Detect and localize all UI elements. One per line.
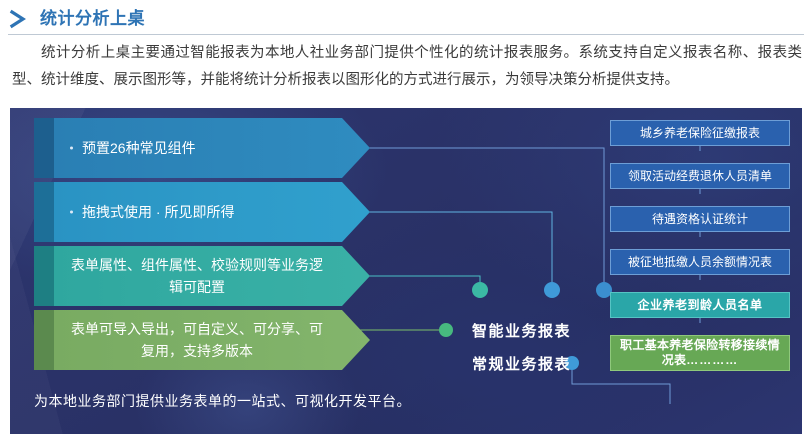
chevron-right-icon [8, 8, 30, 30]
page-title: 统计分析上桌 [40, 8, 145, 30]
feature-bar-3[interactable]: 表单属性、组件属性、校验规则等业务逻辑可配置 [34, 246, 370, 306]
connector-dot-green [439, 323, 453, 337]
center-label-smart-report: 智能业务报表 [472, 320, 571, 341]
report-item-4-label: 被征地抵缴人员余额情况表 [628, 255, 772, 269]
report-item-6[interactable]: 职工基本养老保险转移接续情况表………… [610, 335, 790, 371]
title-divider [8, 34, 804, 35]
report-item-6-ellipsis: ………… [686, 353, 738, 367]
feature-bar-3-tab [34, 246, 54, 306]
page-bottom-margin [0, 434, 812, 439]
feature-bar-2[interactable]: 拖拽式使用 · 所见即所得 [34, 182, 370, 242]
report-list: 城乡养老保险征缴报表 领取活动经费退休人员清单 待遇资格认证统计 被征地抵缴人员… [610, 120, 790, 420]
report-item-4[interactable]: 被征地抵缴人员余额情况表 [610, 249, 790, 275]
feature-bar-1-label: 预置26种常见组件 [82, 137, 196, 159]
feature-bar-1[interactable]: 预置26种常见组件 [34, 118, 370, 178]
bullet-icon [70, 211, 73, 214]
feature-bar-1-text-wrap: 预置26种常见组件 [54, 118, 340, 178]
header-section: 统计分析上桌 统计分析上桌主要通过智能报表为本地人社业务部门提供个性化的统计报表… [0, 0, 812, 104]
feature-bar-2-text-wrap: 拖拽式使用 · 所见即所得 [54, 182, 340, 242]
feature-bar-list: 预置26种常见组件 拖拽式使用 · 所见即所得 表单属性、组件属性、校验规则等业… [34, 118, 370, 376]
feature-bar-1-tab [34, 118, 54, 178]
connector-dot-blue-1 [544, 282, 560, 298]
bullet-icon [70, 147, 73, 150]
feature-bar-3-label: 表单属性、组件属性、校验规则等业务逻辑可配置 [68, 254, 326, 298]
title-row: 统计分析上桌 [8, 8, 145, 30]
intro-paragraph: 统计分析上桌主要通过智能报表为本地人社业务部门提供个性化的统计报表服务。系统支持… [12, 40, 802, 94]
report-item-6-label: 职工基本养老保险转移接续情况表………… [615, 338, 785, 368]
feature-bar-4-label: 表单可导入导出，可自定义、可分享、可复用，支持多版本 [68, 318, 326, 362]
feature-bar-2-tab [34, 182, 54, 242]
feature-bar-4-text-wrap: 表单可导入导出，可自定义、可分享、可复用，支持多版本 [54, 310, 340, 370]
report-item-5-label: 企业养老到龄人员名单 [637, 298, 762, 312]
diagram-panel: 预置26种常见组件 拖拽式使用 · 所见即所得 表单属性、组件属性、校验规则等业… [10, 108, 802, 434]
feature-bar-3-text-wrap: 表单属性、组件属性、校验规则等业务逻辑可配置 [54, 246, 340, 306]
report-item-1[interactable]: 城乡养老保险征缴报表 [610, 120, 790, 146]
report-item-2-label: 领取活动经费退休人员清单 [628, 169, 772, 183]
feature-bar-4[interactable]: 表单可导入导出，可自定义、可分享、可复用，支持多版本 [34, 310, 370, 370]
feature-bar-4-tab [34, 310, 54, 370]
connector-dot-teal [472, 282, 488, 298]
panel-footer-text: 为本地业务部门提供业务表单的一站式、可视化开发平台。 [34, 388, 594, 414]
feature-bar-2-label: 拖拽式使用 · 所见即所得 [82, 201, 234, 223]
report-item-3[interactable]: 待遇资格认证统计 [610, 206, 790, 232]
slide-root: 统计分析上桌 统计分析上桌主要通过智能报表为本地人社业务部门提供个性化的统计报表… [0, 0, 812, 439]
report-item-2[interactable]: 领取活动经费退休人员清单 [610, 163, 790, 189]
center-label-regular-report: 常规业务报表 [472, 353, 571, 374]
report-item-3-label: 待遇资格认证统计 [652, 212, 748, 226]
report-item-1-label: 城乡养老保险征缴报表 [640, 126, 760, 140]
report-item-5[interactable]: 企业养老到龄人员名单 [610, 292, 790, 318]
